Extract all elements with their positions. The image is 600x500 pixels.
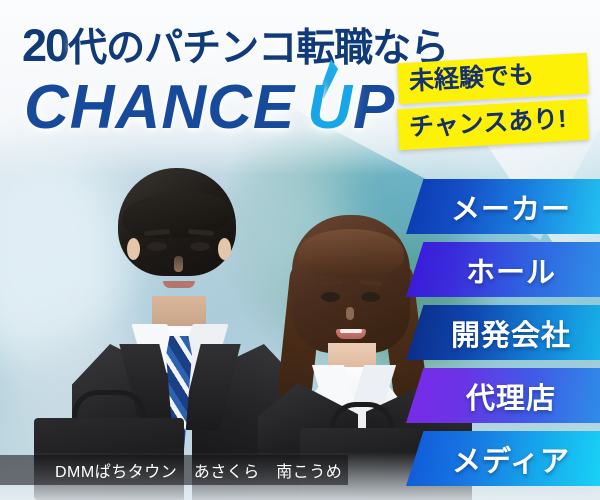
category-label: 開発会社 <box>435 312 571 354</box>
logo-letter-u: U <box>307 73 353 142</box>
advertisement-banner[interactable]: 20代のパチンコ転職なら CHANCE UP 未経験でも チャンスあり! メーカ… <box>0 0 600 500</box>
category-list: メーカー ホール 開発会社 代理店 メディア <box>406 179 600 486</box>
category-bar-development[interactable]: 開発会社 <box>406 305 600 360</box>
badge-line-1: 未経験でも <box>397 53 589 105</box>
credits-bar: DMMぱちタウン あさくら 南こうめ <box>0 455 348 485</box>
category-bar-hall[interactable]: ホール <box>406 242 600 297</box>
category-label: メディア <box>436 438 570 480</box>
category-label: メーカー <box>435 186 571 228</box>
category-label: ホール <box>450 249 556 291</box>
logo-letter-p: P <box>353 73 395 142</box>
category-bar-media[interactable]: メディア <box>406 431 600 486</box>
headline-text: 代のパチンコ転職なら <box>68 27 448 70</box>
category-label: 代理店 <box>450 375 556 417</box>
headline-number: 20 <box>22 20 68 71</box>
category-bar-agency[interactable]: 代理店 <box>406 368 600 423</box>
headline: 20代のパチンコ転職なら <box>22 17 448 73</box>
logo-word-chance: CHANCE <box>24 73 295 142</box>
experience-badge: 未経験でも チャンスあり! <box>398 58 588 145</box>
credits-text: DMMぱちタウン あさくら 南こうめ <box>0 458 342 482</box>
category-bar-maker[interactable]: メーカー <box>406 179 600 234</box>
chance-up-logo: CHANCE UP <box>24 72 395 143</box>
badge-line-2: チャンスあり! <box>397 99 589 151</box>
